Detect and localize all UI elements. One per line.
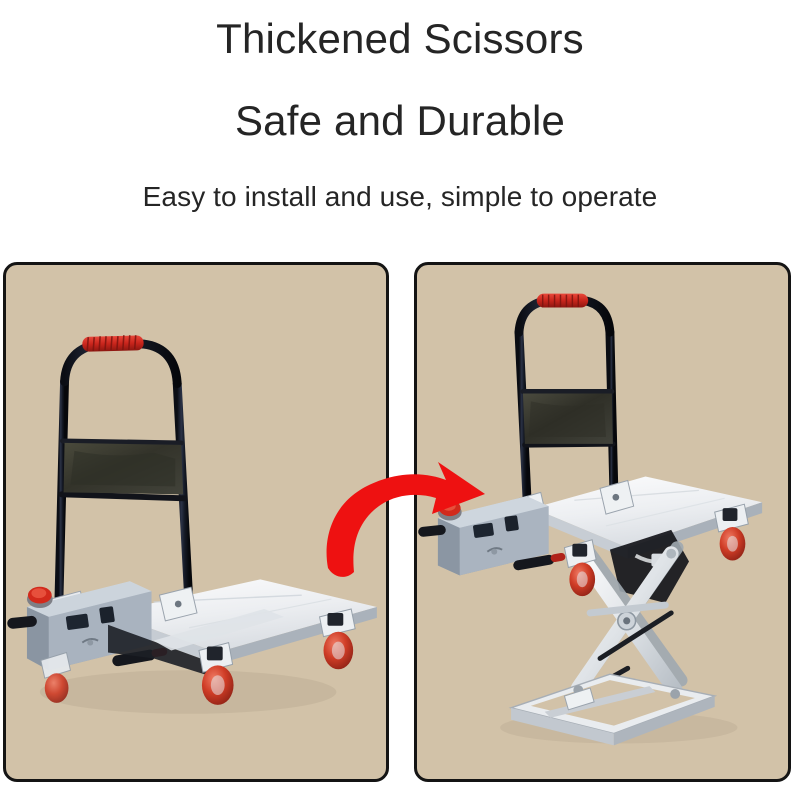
folded-cart-illustration — [6, 265, 386, 779]
caster-wheel-right — [320, 609, 356, 669]
red-foam-grip — [537, 294, 588, 308]
product-banner: Thickened Scissors Safe and Durable Easy… — [0, 0, 800, 800]
caster-wheel-right — [715, 504, 749, 560]
page-title-line-2: Safe and Durable — [0, 100, 800, 142]
caster-wheel-left — [564, 540, 596, 596]
page-title-line-1: Thickened Scissors — [0, 18, 800, 60]
control-box — [418, 496, 566, 575]
panel-folded-cart — [3, 262, 389, 782]
red-foam-grip — [82, 335, 144, 352]
heading-block: Thickened Scissors Safe and Durable Easy… — [0, 0, 800, 250]
emergency-stop-button — [438, 500, 462, 520]
raised-scissor-lift-illustration — [417, 265, 788, 779]
panel-raised-scissor-lift — [414, 262, 791, 782]
emergency-stop-button — [27, 587, 53, 608]
page-subtitle: Easy to install and use, simple to opera… — [0, 183, 800, 211]
